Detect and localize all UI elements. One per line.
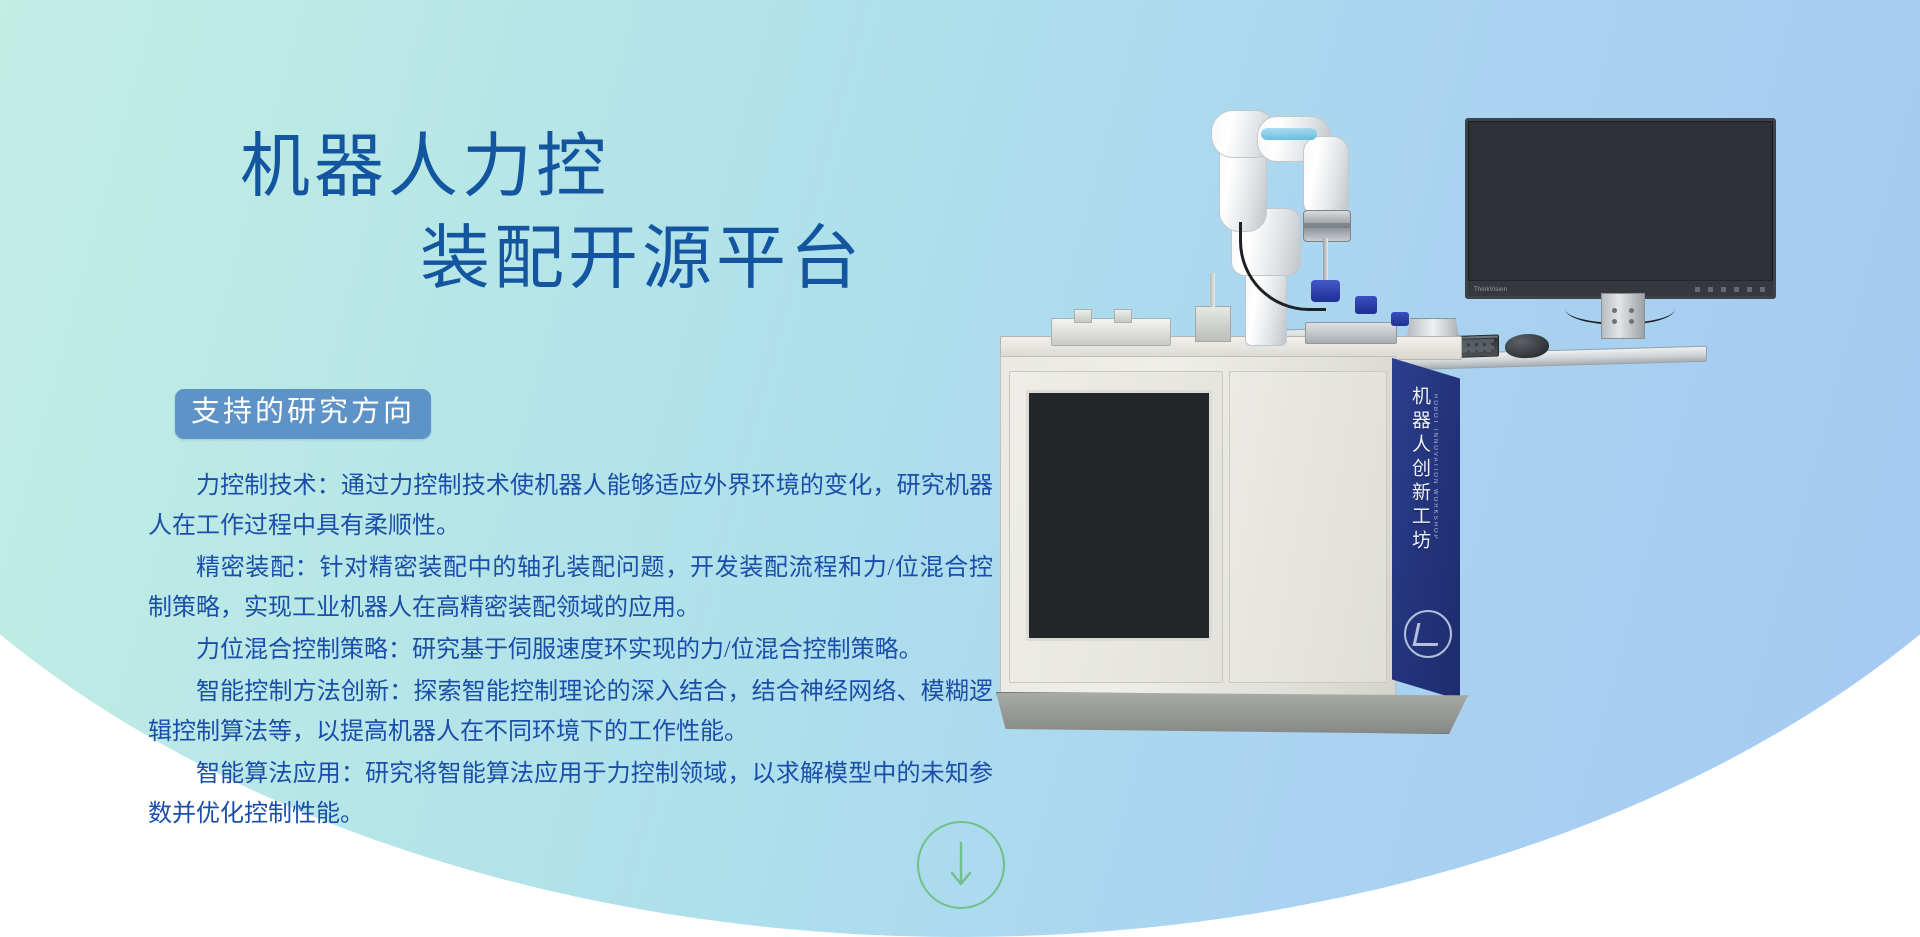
cabinet-door-left bbox=[1009, 371, 1223, 683]
list-item: 智能算法应用：研究将智能算法应用于力控制领域，以求解模型中的未知参数并优化控制性… bbox=[148, 754, 993, 834]
arrow-down-icon bbox=[948, 841, 974, 889]
cabinet-base-plinth bbox=[996, 692, 1468, 734]
list-item: 精密装配：针对精密装配中的轴孔装配问题，开发装配流程和力/位混合控制策略，实现工… bbox=[148, 548, 993, 628]
side-panel-logo-icon bbox=[1404, 610, 1452, 658]
monitor-brand-label: ThinkVision bbox=[1474, 287, 1507, 293]
robot-wrist-link bbox=[1303, 136, 1349, 218]
end-effector-gripper bbox=[1311, 280, 1340, 302]
research-directions-list: 力控制技术：通过力控制技术使机器人能够适应外界环境的变化，研究机器人在工作过程中… bbox=[148, 466, 993, 836]
end-effector-shaft bbox=[1323, 238, 1328, 286]
list-item: 力控制技术：通过力控制技术使机器人能够适应外界环境的变化，研究机器人在工作过程中… bbox=[148, 466, 993, 546]
title-line-2: 装配开源平台 bbox=[240, 214, 1060, 306]
monitor-controls-icon bbox=[1695, 287, 1765, 292]
side-panel-chinese-text: 机器人创新工坊 bbox=[1406, 386, 1433, 554]
research-directions-badge: 支持的研究方向 bbox=[175, 389, 431, 439]
side-panel-english-text: ROBOT INNOVATION WORKSHOP bbox=[1432, 394, 1438, 541]
collaborative-robot-arm bbox=[1153, 98, 1403, 348]
monitor-display: ThinkVision bbox=[1465, 118, 1776, 299]
cabinet-body: 机器人创新工坊 ROBOT INNOVATION WORKSHOP bbox=[1000, 356, 1396, 698]
cabinet-viewing-window bbox=[1026, 390, 1212, 641]
scroll-down-button[interactable] bbox=[917, 821, 1005, 909]
title-line-1: 机器人力控 bbox=[240, 122, 1060, 214]
vesa-holes-icon bbox=[1612, 308, 1634, 324]
robot-joint-indicator-ring bbox=[1261, 128, 1317, 140]
cabinet-door-right bbox=[1229, 371, 1387, 683]
list-item: 力位混合控制策略：研究基于伺服速度环实现的力/位混合控制策略。 bbox=[148, 630, 993, 670]
equipment-cabinet: 机器人创新工坊 ROBOT INNOVATION WORKSHOP 机器人创新工… bbox=[1000, 336, 1460, 756]
page-title: 机器人力控 装配开源平台 bbox=[240, 122, 1060, 307]
hero-banner: 机器人力控 装配开源平台 支持的研究方向 力控制技术：通过力控制技术使机器人能够… bbox=[0, 0, 1920, 937]
list-item: 智能控制方法创新：探索智能控制理论的深入结合，结合神经网络、模糊逻辑控制算法等，… bbox=[148, 672, 993, 752]
cabinet-side-panel: 机器人创新工坊 ROBOT INNOVATION WORKSHOP bbox=[1392, 358, 1460, 700]
monitor-screen bbox=[1471, 124, 1770, 281]
workstation-photo: ThinkVision 机器人创新工坊 ROBOT INNOVATIO bbox=[1005, 100, 1920, 800]
monitor-mount-bracket bbox=[1601, 293, 1645, 339]
